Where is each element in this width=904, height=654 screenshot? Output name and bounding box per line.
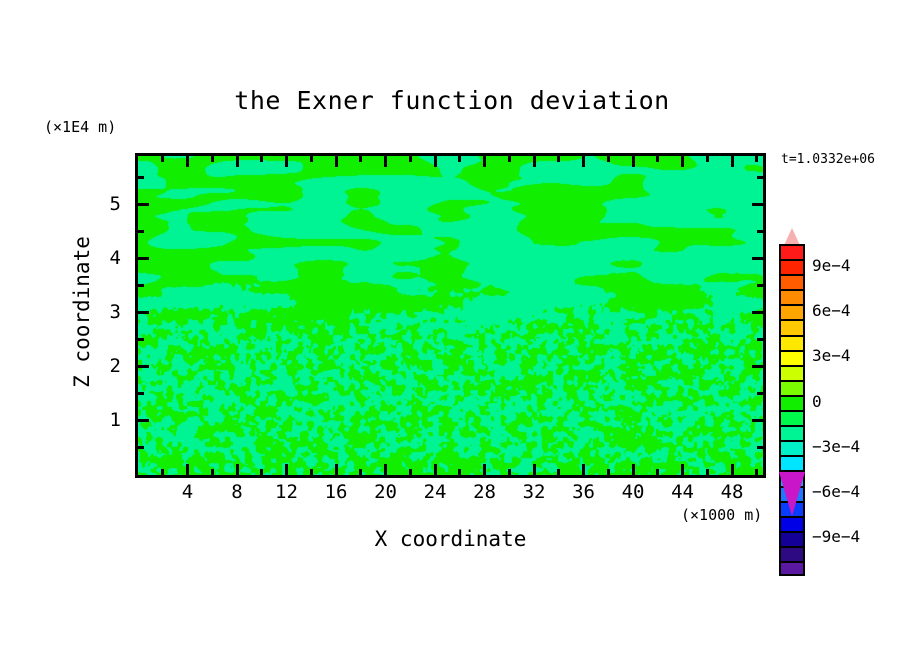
colorbar-under-arrow bbox=[779, 472, 805, 516]
x-minor-tick bbox=[607, 469, 610, 475]
colorbar-cell bbox=[779, 410, 805, 425]
colorbar-cell bbox=[779, 350, 805, 365]
x-tick-label: 12 bbox=[267, 481, 307, 503]
x-major-tick bbox=[285, 156, 288, 167]
x-major-tick bbox=[335, 464, 338, 475]
x-minor-tick bbox=[607, 156, 610, 162]
x-major-tick bbox=[384, 464, 387, 475]
y-major-tick bbox=[138, 419, 149, 422]
y-minor-tick bbox=[757, 176, 763, 179]
colorbar-cell bbox=[779, 304, 805, 319]
x-minor-tick bbox=[557, 469, 560, 475]
timestamp-annotation: t=1.0332e+06 bbox=[781, 152, 875, 167]
x-major-tick bbox=[681, 156, 684, 167]
colorbar-cell bbox=[779, 531, 805, 546]
y-major-tick bbox=[752, 419, 763, 422]
colorbar-cell bbox=[779, 319, 805, 334]
y-major-tick bbox=[752, 311, 763, 314]
colorbar-cell bbox=[779, 244, 805, 259]
colorbar-cell bbox=[779, 365, 805, 380]
y-tick-label: 2 bbox=[91, 355, 121, 377]
y-minor-tick bbox=[138, 230, 144, 233]
y-major-tick bbox=[752, 365, 763, 368]
x-major-tick bbox=[582, 156, 585, 167]
x-major-tick bbox=[533, 464, 536, 475]
y-minor-tick bbox=[138, 392, 144, 395]
y-major-tick bbox=[138, 203, 149, 206]
y-major-tick bbox=[752, 203, 763, 206]
x-tick-label: 20 bbox=[366, 481, 406, 503]
x-tick-label: 16 bbox=[316, 481, 356, 503]
x-tick-label: 32 bbox=[514, 481, 554, 503]
x-major-tick bbox=[434, 156, 437, 167]
x-minor-tick bbox=[656, 156, 659, 162]
x-major-tick bbox=[236, 156, 239, 167]
x-minor-tick bbox=[161, 469, 164, 475]
colorbar-cell bbox=[779, 516, 805, 531]
x-major-tick bbox=[186, 464, 189, 475]
x-tick-label: 24 bbox=[415, 481, 455, 503]
x-tick-label: 40 bbox=[613, 481, 653, 503]
x-minor-tick bbox=[755, 469, 758, 475]
colorbar bbox=[779, 244, 805, 576]
colorbar-tick-label: 9e−4 bbox=[812, 256, 851, 275]
colorbar-cell bbox=[779, 259, 805, 274]
x-minor-tick bbox=[458, 469, 461, 475]
x-major-tick bbox=[632, 464, 635, 475]
y-tick-label: 4 bbox=[91, 247, 121, 269]
x-tick-label: 36 bbox=[564, 481, 604, 503]
colorbar-cell bbox=[779, 395, 805, 410]
x-major-tick bbox=[582, 464, 585, 475]
y-minor-tick bbox=[757, 446, 763, 449]
x-tick-label: 8 bbox=[217, 481, 257, 503]
y-minor-tick bbox=[757, 230, 763, 233]
y-tick-label: 5 bbox=[91, 193, 121, 215]
y-minor-tick bbox=[138, 338, 144, 341]
colorbar-cell bbox=[779, 335, 805, 350]
x-minor-tick bbox=[557, 156, 560, 162]
colorbar-cell bbox=[779, 425, 805, 440]
x-minor-tick bbox=[310, 469, 313, 475]
x-minor-tick bbox=[161, 156, 164, 162]
page-title: the Exner function deviation bbox=[0, 86, 904, 115]
colorbar-cell bbox=[779, 274, 805, 289]
x-minor-tick bbox=[706, 156, 709, 162]
colorbar-cell bbox=[779, 289, 805, 304]
x-minor-tick bbox=[310, 156, 313, 162]
y-major-tick bbox=[138, 365, 149, 368]
x-major-tick bbox=[285, 464, 288, 475]
x-minor-tick bbox=[359, 469, 362, 475]
x-minor-tick bbox=[211, 156, 214, 162]
x-major-tick bbox=[632, 156, 635, 167]
x-minor-tick bbox=[458, 156, 461, 162]
colorbar-cell bbox=[779, 455, 805, 470]
colorbar-cell bbox=[779, 380, 805, 395]
x-major-tick bbox=[384, 156, 387, 167]
x-minor-tick bbox=[508, 469, 511, 475]
x-major-tick bbox=[681, 464, 684, 475]
x-major-tick bbox=[731, 464, 734, 475]
x-minor-tick bbox=[409, 469, 412, 475]
x-minor-tick bbox=[755, 156, 758, 162]
y-tick-label: 3 bbox=[91, 301, 121, 323]
x-minor-tick bbox=[260, 156, 263, 162]
y-minor-tick bbox=[757, 392, 763, 395]
x-major-tick bbox=[186, 156, 189, 167]
x-major-tick bbox=[434, 464, 437, 475]
x-minor-tick bbox=[409, 156, 412, 162]
colorbar-tick-label: −3e−4 bbox=[812, 437, 860, 456]
y-minor-tick bbox=[138, 176, 144, 179]
y-major-tick bbox=[752, 257, 763, 260]
colorbar-tick-label: 0 bbox=[812, 392, 822, 411]
x-tick-label: 44 bbox=[663, 481, 703, 503]
colorbar-cell bbox=[779, 546, 805, 561]
y-major-tick bbox=[138, 257, 149, 260]
contour-field bbox=[138, 156, 763, 475]
x-minor-tick bbox=[211, 469, 214, 475]
y-tick-label: 1 bbox=[91, 409, 121, 431]
z-axis-unit-label: (×1E4 m) bbox=[44, 118, 116, 136]
y-minor-tick bbox=[138, 446, 144, 449]
x-axis-unit-label: (×1000 m) bbox=[681, 506, 762, 524]
x-tick-label: 28 bbox=[465, 481, 505, 503]
colorbar-tick-label: 3e−4 bbox=[812, 346, 851, 365]
colorbar-tick-label: −6e−4 bbox=[812, 482, 860, 501]
x-major-tick bbox=[335, 156, 338, 167]
y-minor-tick bbox=[757, 284, 763, 287]
x-tick-label: 4 bbox=[168, 481, 208, 503]
colorbar-tick-label: −9e−4 bbox=[812, 527, 860, 546]
x-minor-tick bbox=[706, 469, 709, 475]
x-tick-label: 48 bbox=[712, 481, 752, 503]
y-minor-tick bbox=[757, 338, 763, 341]
x-minor-tick bbox=[359, 156, 362, 162]
x-major-tick bbox=[483, 156, 486, 167]
colorbar-tick-label: 6e−4 bbox=[812, 301, 851, 320]
x-major-tick bbox=[236, 464, 239, 475]
colorbar-cell bbox=[779, 440, 805, 455]
x-axis-title: X coordinate bbox=[135, 527, 766, 551]
x-major-tick bbox=[483, 464, 486, 475]
y-minor-tick bbox=[138, 284, 144, 287]
y-axis-title: Z coordinate bbox=[70, 212, 94, 412]
x-minor-tick bbox=[656, 469, 659, 475]
x-minor-tick bbox=[508, 156, 511, 162]
y-major-tick bbox=[138, 311, 149, 314]
contour-plot-area bbox=[135, 153, 766, 478]
x-major-tick bbox=[731, 156, 734, 167]
x-major-tick bbox=[533, 156, 536, 167]
colorbar-cell bbox=[779, 561, 805, 576]
x-minor-tick bbox=[260, 469, 263, 475]
